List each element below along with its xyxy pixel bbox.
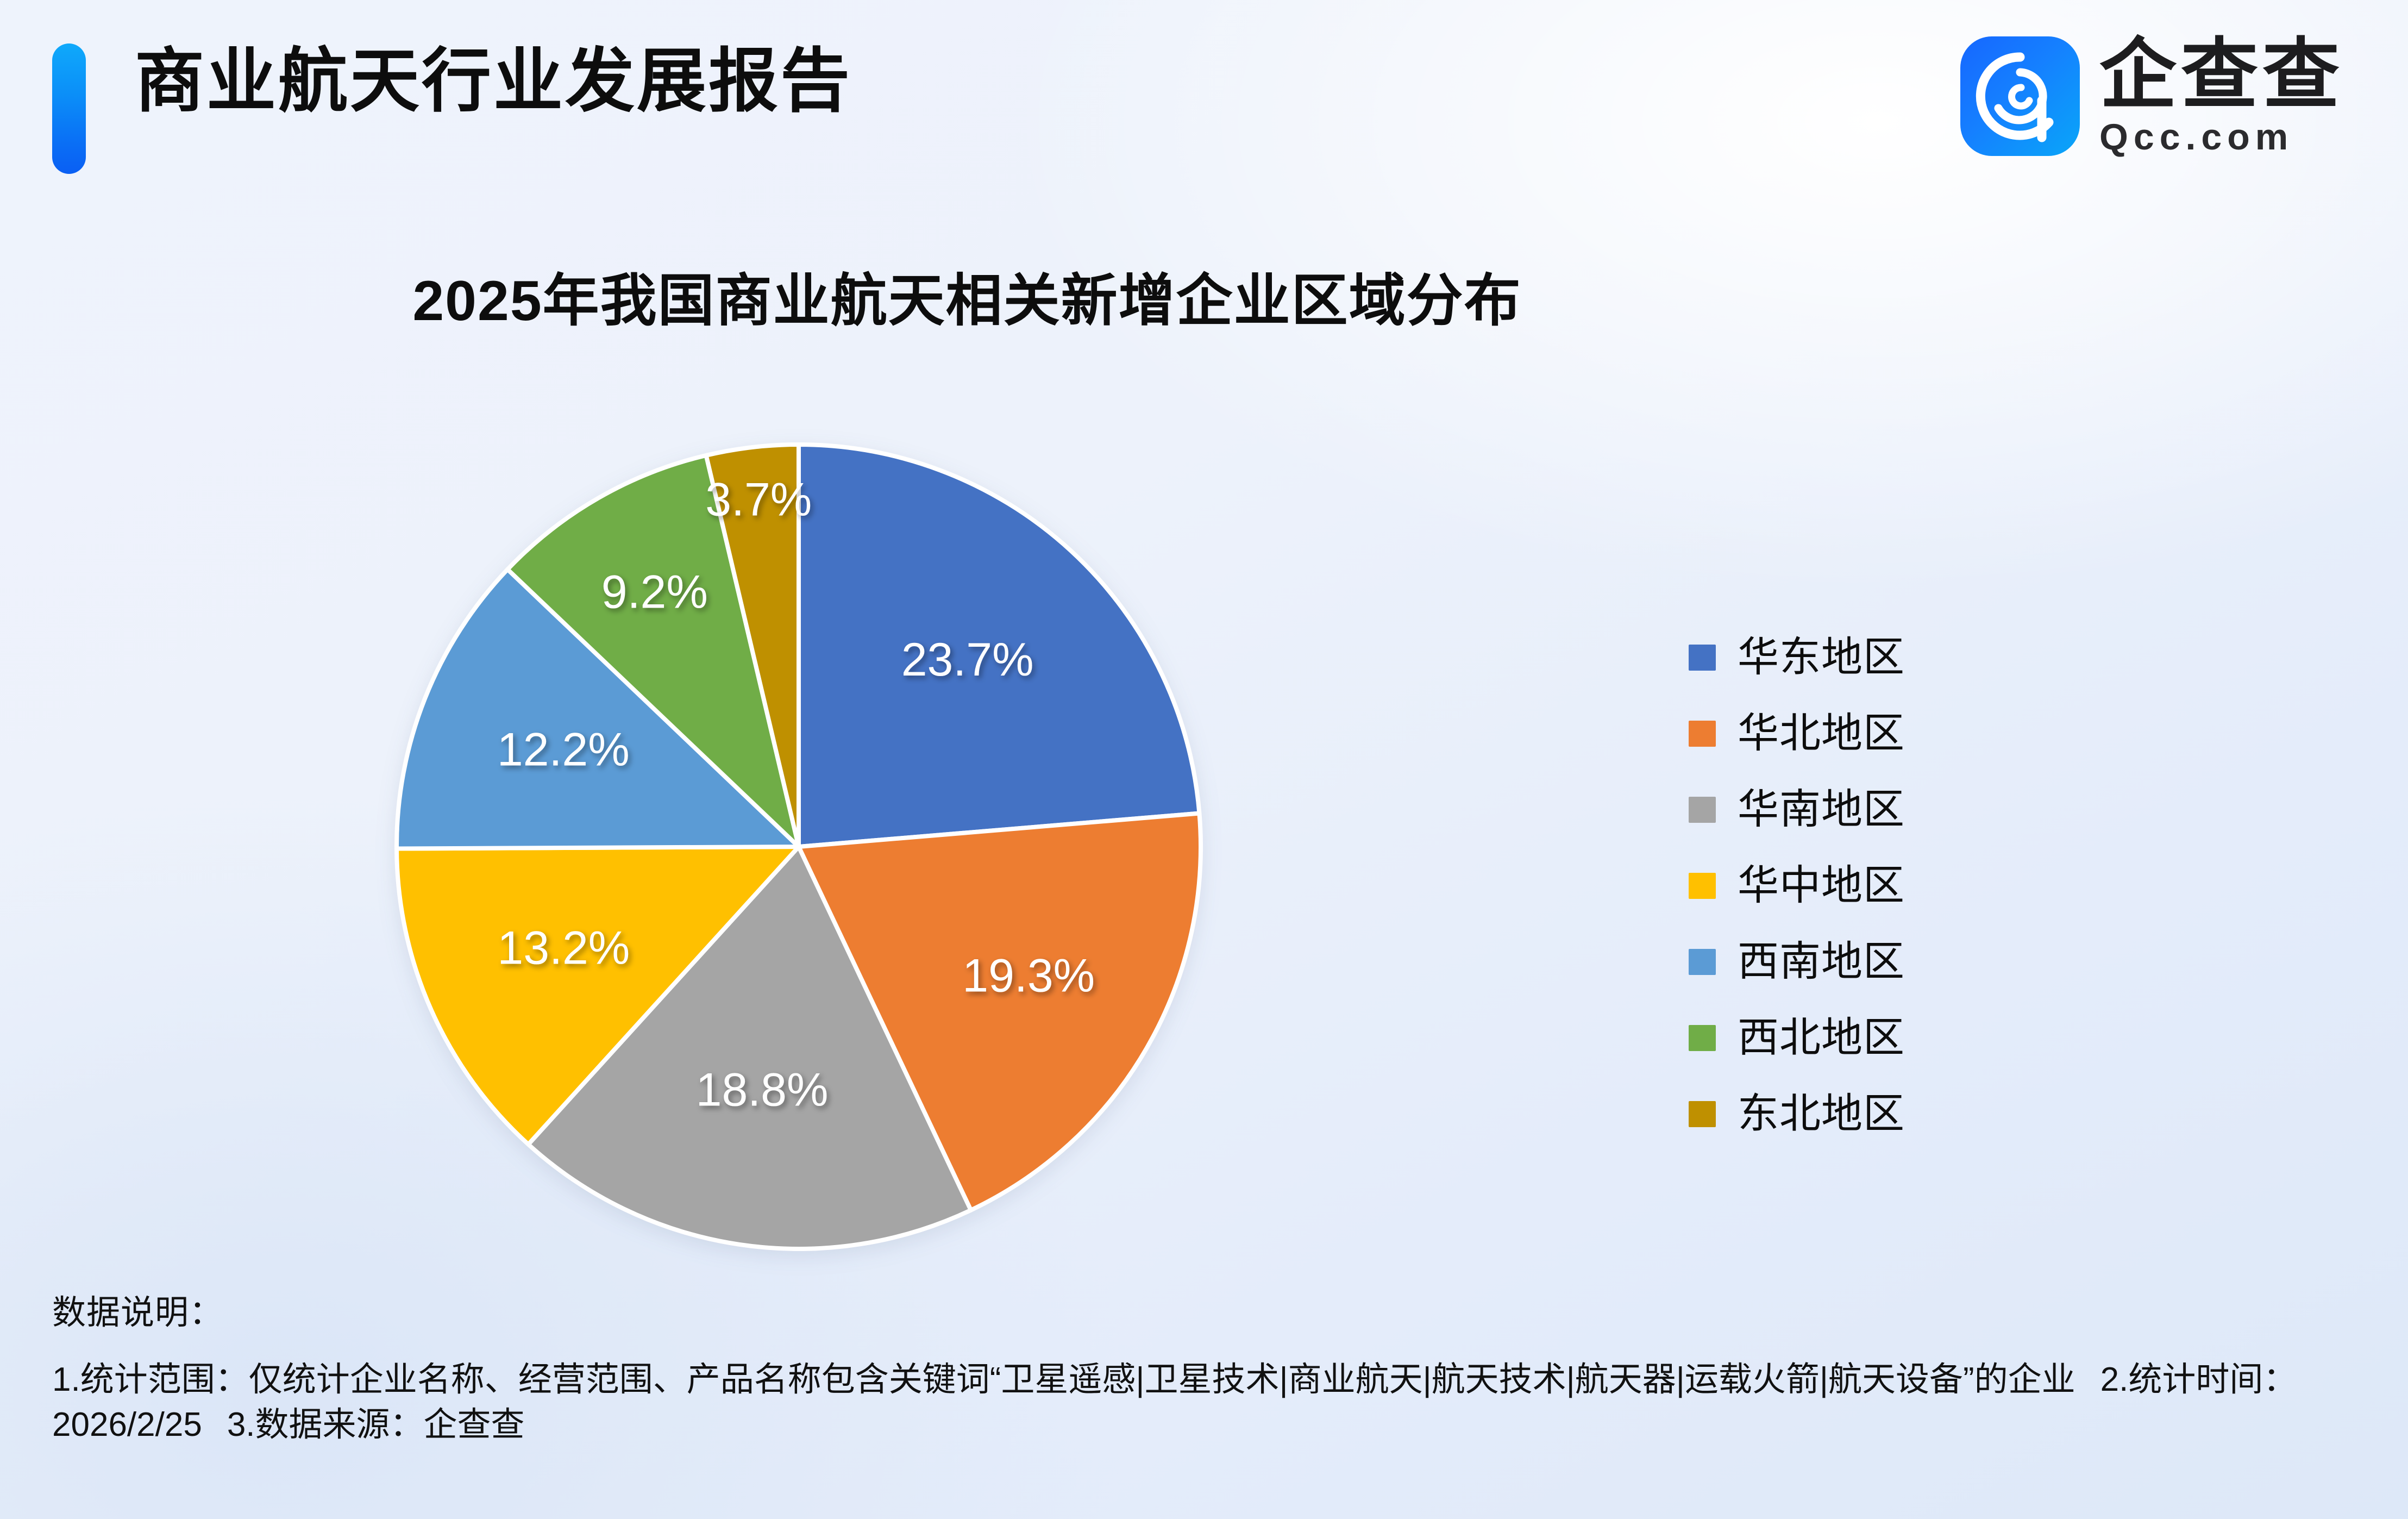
footer-heading: 数据说明： xyxy=(52,1296,2361,1330)
footer-line-2b: 3.数据来源：企查查 xyxy=(227,1406,525,1443)
legend-item-5[interactable]: 西北地区 xyxy=(1689,1000,1905,1076)
pie-slice-label-5: 9.2% xyxy=(601,566,708,618)
legend-swatch-icon-1 xyxy=(1689,721,1716,747)
pie-chart: 23.7%19.3%18.8%13.2%12.2%9.2%3.7% xyxy=(375,429,1222,1266)
legend-label-1: 华北地区 xyxy=(1738,713,1905,754)
legend-item-3[interactable]: 华中地区 xyxy=(1689,848,1905,924)
legend-swatch-icon-0 xyxy=(1689,645,1716,671)
chart-title: 2025年我国商业航天相关新增企业区域分布 xyxy=(0,254,1934,336)
legend-label-3: 华中地区 xyxy=(1738,865,1905,907)
legend-swatch-icon-3 xyxy=(1689,873,1716,899)
pie-slice-label-3: 13.2% xyxy=(497,922,630,974)
pie-slice-label-4: 12.2% xyxy=(497,724,630,776)
legend-label-2: 华南地区 xyxy=(1738,789,1905,830)
legend-item-4[interactable]: 西南地区 xyxy=(1689,924,1905,1000)
legend-swatch-icon-5 xyxy=(1689,1025,1716,1051)
legend-swatch-icon-4 xyxy=(1689,949,1716,975)
page-header: 商业航天行业发展报告 企查查 Qcc.com xyxy=(0,0,2408,207)
qcc-q-spiral-icon xyxy=(1960,36,2080,156)
legend-item-6[interactable]: 东北地区 xyxy=(1689,1076,1905,1152)
legend-label-0: 华东地区 xyxy=(1738,637,1905,678)
legend-label-5: 西北地区 xyxy=(1738,1017,1905,1059)
qcc-logo[interactable]: 企查查 Qcc.com xyxy=(1960,36,2344,157)
legend-item-2[interactable]: 华南地区 xyxy=(1689,772,1905,848)
pie-slice-label-2: 18.8% xyxy=(696,1064,829,1116)
page-title: 商业航天行业发展报告 xyxy=(135,47,852,116)
legend-label-4: 西南地区 xyxy=(1738,941,1905,983)
legend-item-0[interactable]: 华东地区 xyxy=(1689,620,1905,696)
chart-legend: 华东地区 华北地区 华南地区 华中地区 西南地区 西北地区 东北地区 xyxy=(1689,620,1905,1152)
legend-label-6: 东北地区 xyxy=(1738,1093,1905,1135)
legend-swatch-icon-6 xyxy=(1689,1101,1716,1127)
footer-line-1: 1.统计范围：仅统计企业名称、经营范围、产品名称包含关键词“卫星遥感|卫星技术|… xyxy=(52,1361,2075,1398)
logo-text: 企查查 Qcc.com xyxy=(2099,36,2344,157)
pie-slice-label-6: 3.7% xyxy=(705,474,812,526)
pie-slice-label-0: 23.7% xyxy=(901,634,1034,686)
pie-slice-label-1: 19.3% xyxy=(962,949,1095,1002)
footer-notes: 数据说明： 1.统计范围：仅统计企业名称、经营范围、产品名称包含关键词“卫星遥感… xyxy=(52,1296,2361,1447)
footer-body: 1.统计范围：仅统计企业名称、经营范围、产品名称包含关键词“卫星遥感|卫星技术|… xyxy=(52,1357,2361,1447)
header-accent-bar xyxy=(52,43,86,174)
legend-item-1[interactable]: 华北地区 xyxy=(1689,696,1905,772)
logo-brand-cn: 企查查 xyxy=(2099,36,2344,115)
legend-swatch-icon-2 xyxy=(1689,797,1716,823)
logo-brand-en: Qcc.com xyxy=(2099,118,2344,157)
